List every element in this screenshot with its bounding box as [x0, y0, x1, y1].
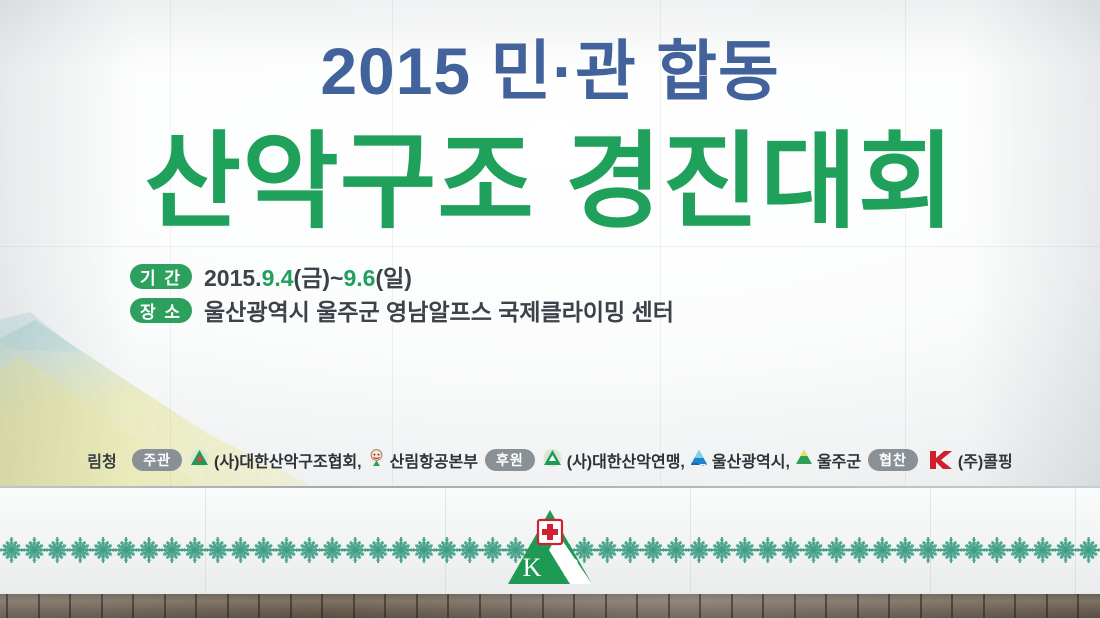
sponsor-entry: 울주군 — [795, 448, 861, 472]
deck-plank — [857, 594, 859, 618]
snowflake-star-icon — [90, 537, 116, 563]
deck-plank — [636, 594, 638, 618]
deck-plank — [1046, 594, 1048, 618]
snowflake-star-icon — [21, 537, 47, 563]
snowflake-star-icon — [823, 537, 849, 563]
deck-plank — [479, 594, 481, 618]
snowflake-star-icon — [846, 537, 872, 563]
banner-subtitle: 2015 민·관 합동 — [0, 38, 1100, 104]
snowflake-star-icon — [1007, 537, 1033, 563]
snowflake-star-icon — [319, 537, 345, 563]
snowflake-star-icon — [915, 537, 941, 563]
mountain-triangle-icon — [189, 448, 210, 472]
ulju-peak-icon — [795, 449, 813, 471]
snowflake-star-icon — [801, 537, 827, 563]
deck-plank — [164, 594, 166, 618]
deck-plank — [227, 594, 229, 618]
sponsor-tag-juegwan: 주관 — [132, 449, 182, 471]
snowflake-star-icon — [342, 537, 368, 563]
deck-plank — [258, 594, 260, 618]
deck-plank — [605, 594, 607, 618]
snowflake-star-icon — [732, 537, 758, 563]
sponsor-name: 울주군 — [817, 448, 861, 472]
snowflake-star-icon — [1030, 537, 1056, 563]
deck-plank — [668, 594, 670, 618]
snowflake-star-icon — [984, 537, 1010, 563]
snowflake-star-icon — [136, 537, 162, 563]
deck-plank — [794, 594, 796, 618]
deck-plank — [384, 594, 386, 618]
deck-plank — [195, 594, 197, 618]
emblem-letter-r: R — [563, 553, 581, 582]
event-info-block: 기 간 2015.9.4(금)~9.6(일) 장 소 울산광역시 울주군 영남알… — [130, 261, 674, 329]
snowflake-star-icon — [457, 537, 483, 563]
deck-plank — [1077, 594, 1079, 618]
deck-plank — [447, 594, 449, 618]
sponsor-cutoff-text: 림청 — [87, 448, 119, 472]
snowflake-star-icon — [411, 537, 437, 563]
snowflake-star-icon — [205, 537, 231, 563]
emblem-letter-k: K — [523, 553, 542, 582]
snowflake-star-icon — [869, 537, 895, 563]
snowflake-star-icon — [1053, 537, 1079, 563]
deck-plank — [6, 594, 8, 618]
ulsan-wave-icon — [690, 449, 708, 471]
snowflake-star-icon — [44, 537, 70, 563]
cloth-seam — [0, 486, 1100, 488]
snowflake-star-icon — [938, 537, 964, 563]
snowflake-star-icon — [640, 537, 666, 563]
snowflake-star-icon — [434, 537, 460, 563]
snowflake-star-icon — [273, 537, 299, 563]
sponsor-entry: (주)콜핑 — [925, 448, 1013, 472]
snowflake-star-icon — [182, 537, 208, 563]
sponsor-name: (사)대한산악연맹, — [567, 448, 685, 472]
deck-plank — [416, 594, 418, 618]
deck-plank — [573, 594, 575, 618]
deck-plank — [983, 594, 985, 618]
deck-plank — [825, 594, 827, 618]
deck-plank — [1014, 594, 1016, 618]
sponsor-name: 울산광역시, — [712, 448, 790, 472]
info-row-venue: 장 소 울산광역시 울주군 영남알프스 국제클라이밍 센터 — [130, 295, 674, 325]
snowflake-star-icon — [159, 537, 185, 563]
mountain-triangle-icon — [542, 448, 563, 472]
snowflake-star-icon — [388, 537, 414, 563]
snowflake-star-icon — [113, 537, 139, 563]
sponsor-tag-hyeopchan: 협찬 — [868, 449, 918, 471]
sponsor-strip: 림청 주관 (사)대한산악구조협회, 산림항공본부 후원 (사)대한산악연맹, — [0, 445, 1100, 475]
snowflake-star-icon — [709, 537, 735, 563]
snowflake-star-icon — [296, 537, 322, 563]
snowflake-star-icon — [755, 537, 781, 563]
wooden-deck — [0, 594, 1100, 618]
snowflake-star-icon — [1076, 537, 1100, 563]
venue-label-pill: 장 소 — [130, 298, 192, 323]
deck-plank — [353, 594, 355, 618]
sponsor-name: 산림항공본부 — [390, 448, 478, 472]
sponsor-name: (주)콜핑 — [958, 448, 1013, 472]
snowflake-star-icon — [228, 537, 254, 563]
snowflake-star-icon — [365, 537, 391, 563]
deck-plank — [542, 594, 544, 618]
deck-plank — [951, 594, 953, 618]
deck-plank — [132, 594, 134, 618]
deck-plank — [731, 594, 733, 618]
snowflake-star-icon — [617, 537, 643, 563]
deck-plank — [101, 594, 103, 618]
snowflake-star-icon — [0, 537, 24, 563]
photo-scene: 2015 민·관 합동 산악구조 경진대회 기 간 2015.9.4(금)~9.… — [0, 0, 1100, 618]
deck-plank — [38, 594, 40, 618]
sponsor-entry: (사)대한산악연맹, — [542, 448, 685, 472]
banner-crease — [0, 246, 1100, 247]
banner-title: 산악구조 경진대회 — [0, 128, 1100, 238]
snowflake-star-icon — [686, 537, 712, 563]
kolping-k-icon — [927, 449, 953, 471]
event-banner: 2015 민·관 합동 산악구조 경진대회 기 간 2015.9.4(금)~9.… — [0, 0, 1100, 488]
korea-rescue-emblem: K R — [500, 500, 600, 596]
deck-plank — [290, 594, 292, 618]
period-value: 2015.9.4(금)~9.6(일) — [204, 259, 412, 293]
deck-plank — [888, 594, 890, 618]
sponsor-name: (사)대한산악구조협회, — [214, 448, 362, 472]
snowflake-star-icon — [251, 537, 277, 563]
sponsor-entry: (사)대한산악구조협회, — [189, 448, 362, 472]
snowflake-star-icon — [961, 537, 987, 563]
venue-value: 울산광역시 울주군 영남알프스 국제클라이밍 센터 — [204, 293, 674, 327]
snowflake-star-icon — [778, 537, 804, 563]
sponsor-entry: 산림항공본부 — [367, 448, 478, 472]
deck-plank — [321, 594, 323, 618]
snowflake-star-icon — [663, 537, 689, 563]
sponsor-entry: 울산광역시, — [690, 448, 790, 472]
deck-plank — [762, 594, 764, 618]
snowflake-star-icon — [67, 537, 93, 563]
deck-plank — [699, 594, 701, 618]
deck-plank — [69, 594, 71, 618]
sponsor-tag-huwon: 후원 — [485, 449, 535, 471]
period-label-pill: 기 간 — [130, 264, 192, 289]
forest-mascot-icon — [367, 448, 386, 472]
snowflake-star-icon — [892, 537, 918, 563]
deck-plank — [920, 594, 922, 618]
deck-plank — [510, 594, 512, 618]
info-row-period: 기 간 2015.9.4(금)~9.6(일) — [130, 261, 674, 291]
